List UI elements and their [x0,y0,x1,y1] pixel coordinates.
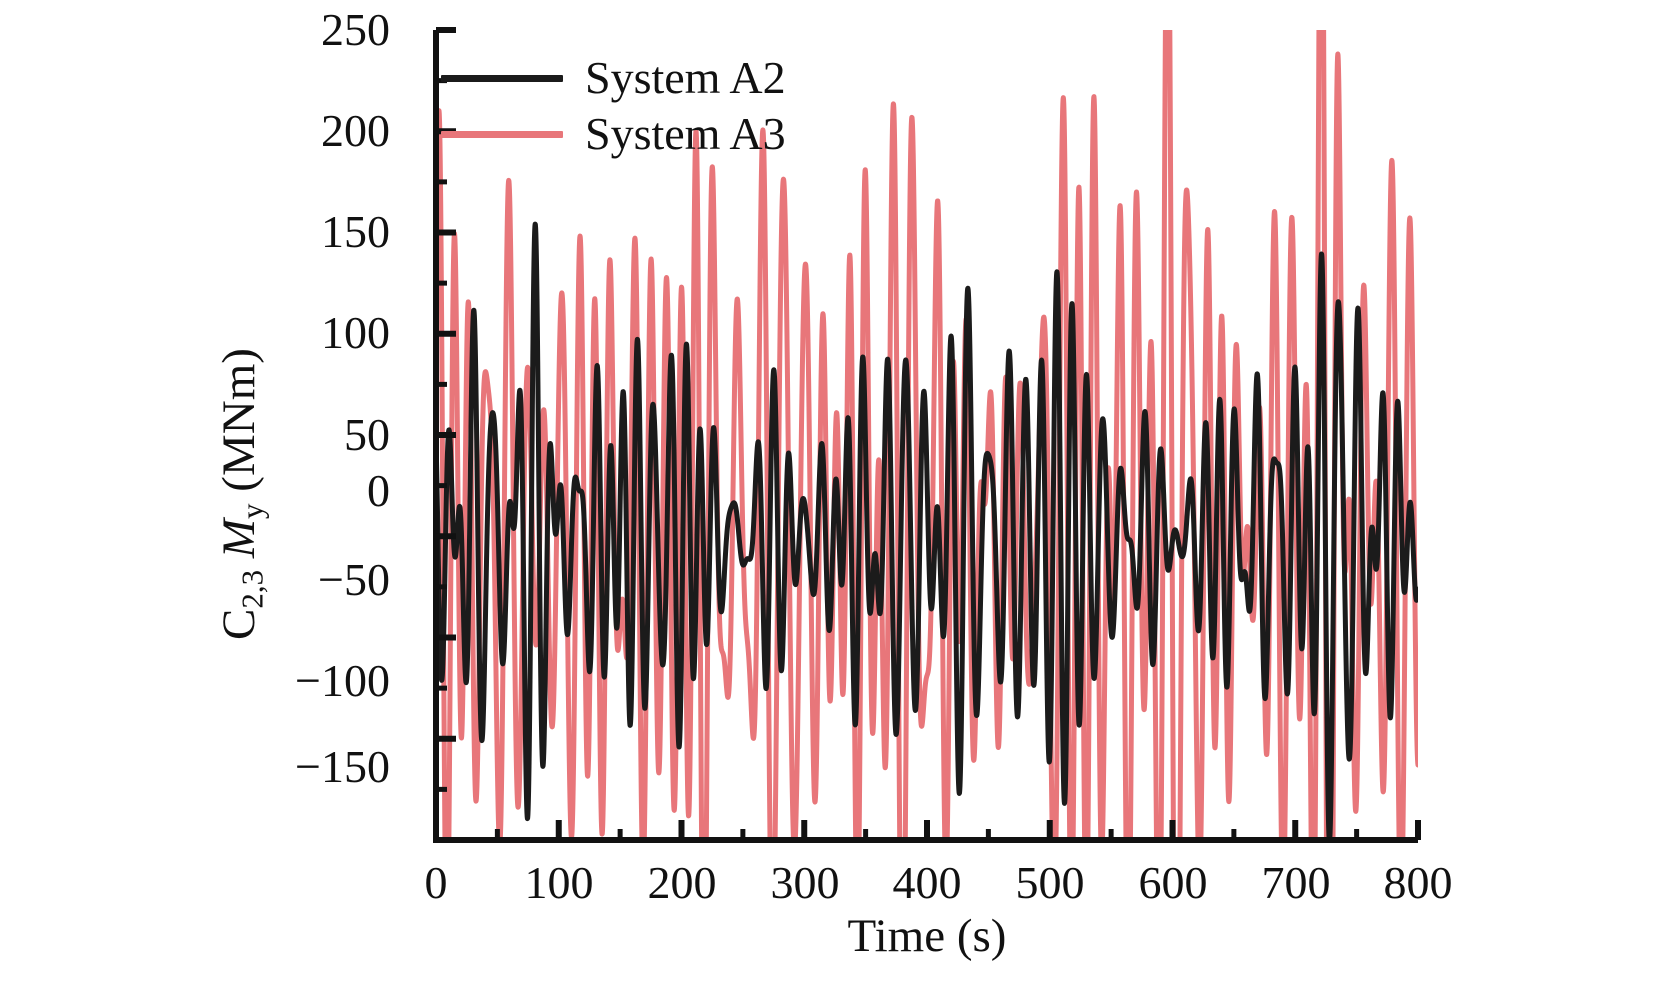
x-tick-label: 100 [499,860,619,906]
y-tick-label: −100 [190,658,390,704]
x-tick-label: 0 [376,860,496,906]
x-tick-label: 700 [1236,860,1356,906]
x-tick-label: 600 [1113,860,1233,906]
x-axis-title: Time (s) [727,913,1127,960]
legend-label: System A3 [585,111,786,157]
legend-swatch-line [441,131,563,138]
y-axis-title: C2,3 My (MNm) [216,348,276,640]
chart-legend: System A2 System A3 [441,50,786,162]
y-tick-label: 150 [190,209,390,255]
chart-figure: 250 200 150 100 50 0 −50 −100 −150 0 100… [0,0,1673,981]
legend-label: System A2 [585,55,786,101]
legend-item-system-a2: System A2 [441,50,786,106]
y-tick-label: 200 [190,108,390,154]
x-tick-label: 300 [745,860,865,906]
legend-item-system-a3: System A3 [441,106,786,162]
x-tick-label: 800 [1358,860,1478,906]
y-tick-label: −150 [190,744,390,790]
x-tick-label: 500 [990,860,1110,906]
legend-swatch-line [441,75,563,82]
x-tick-label: 200 [622,860,742,906]
y-tick-label: 250 [190,7,390,53]
x-tick-label: 400 [867,860,987,906]
